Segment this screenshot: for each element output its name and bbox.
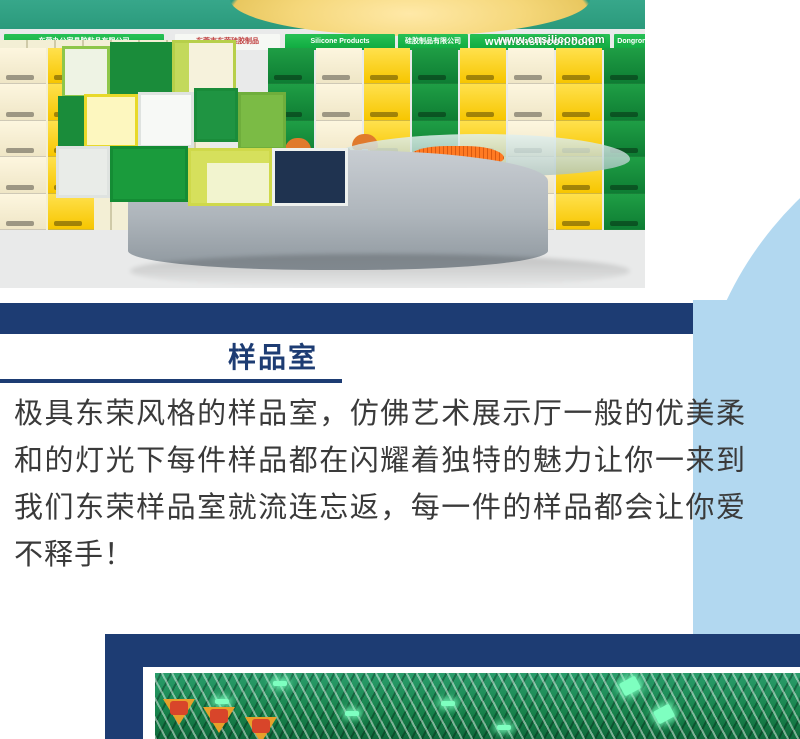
shelf-column [0, 48, 46, 230]
floor-reflection [130, 254, 630, 288]
top-photo-frame: 东荣办公家具胶粘品有限公司 东莞市东荣硅胶制品 Silicone Product… [0, 0, 655, 303]
body-paragraph: 极具东荣风格的样品室，仿佛艺术展示厅一般的优美柔和的灯光下每件样品都在闪耀着独特… [0, 383, 766, 579]
page-title: 样品室 [0, 334, 800, 375]
ceiling-light [497, 725, 511, 730]
display-cube [188, 148, 272, 206]
ceiling-light [345, 711, 359, 716]
ceiling [0, 0, 645, 29]
bunting-flag [245, 717, 277, 739]
bottom-photo-frame [143, 667, 800, 739]
navy-banner-top [0, 303, 693, 334]
display-cube [238, 92, 286, 150]
display-cube [56, 146, 110, 198]
display-cube [110, 42, 172, 98]
shelf-column [604, 48, 645, 230]
ceiling-lamp [230, 0, 590, 36]
page-root: 东荣办公家具胶粘品有限公司 东莞市东荣硅胶制品 Silicone Product… [0, 0, 800, 739]
display-cube [138, 92, 194, 148]
display-cube [58, 96, 84, 148]
display-cube [62, 46, 110, 98]
showroom-photo: 东荣办公家具胶粘品有限公司 东莞市东荣硅胶制品 Silicone Product… [0, 0, 645, 288]
bunting-flag [203, 707, 235, 733]
display-cube [110, 146, 188, 202]
text-section: 样品室 极具东荣风格的样品室，仿佛艺术展示厅一般的优美柔和的灯光下每件样品都在闪… [0, 334, 800, 579]
display-cube [272, 148, 348, 206]
ceiling-light [215, 699, 229, 704]
photo-watermark: www.cnsilicon.com [498, 34, 605, 46]
factory-ceiling-photo [155, 673, 800, 739]
ceiling-light [441, 701, 455, 706]
bunting-flag [163, 699, 195, 725]
display-cube [194, 88, 238, 142]
display-cube [84, 94, 138, 148]
ceiling-light [273, 681, 287, 686]
showroom-scene: 东荣办公家具胶粘品有限公司 东莞市东荣硅胶制品 Silicone Product… [0, 0, 645, 288]
